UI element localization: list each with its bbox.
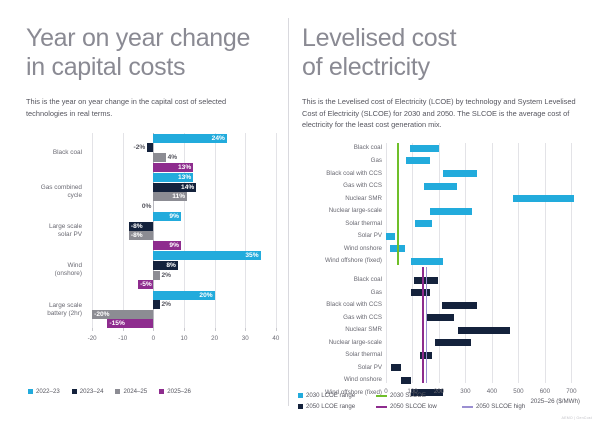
yoy-value-label: 9% bbox=[169, 212, 179, 221]
legend-item-label: 2023–24 bbox=[80, 388, 104, 395]
lcoe-range-bar bbox=[406, 157, 430, 164]
lcoe-range-bar bbox=[435, 339, 471, 346]
yoy-axis-tick-label: 10 bbox=[181, 335, 188, 342]
lcoe-range-bar bbox=[424, 183, 457, 190]
yoy-axis-tick-label: -10 bbox=[118, 335, 127, 342]
yoy-category-label-line: Black coal bbox=[26, 149, 82, 157]
gridline bbox=[545, 143, 546, 383]
legend-swatch-icon bbox=[159, 389, 164, 394]
lcoe-range-bar bbox=[430, 208, 472, 215]
yoy-category-label-line: Gas combined bbox=[26, 184, 82, 192]
gridline bbox=[245, 133, 246, 329]
yoy-value-label: 2% bbox=[162, 271, 172, 280]
legend-item[interactable]: 2050 SLCOE low bbox=[376, 403, 462, 410]
yoy-bar-chart: 24%-2%4%13%13%14%11%0%9%-8%-8%9%35%8%2%-… bbox=[26, 133, 288, 348]
panel-year-on-year-change: Year on year change in capital costs Thi… bbox=[0, 0, 288, 424]
lcoe-range-bar bbox=[442, 302, 478, 309]
intro-text-left: This is the year on year change in the c… bbox=[26, 96, 261, 119]
lcoe-range-bar bbox=[410, 145, 439, 152]
yoy-value-label: 2% bbox=[162, 300, 172, 309]
yoy-category-label-line: Wind bbox=[26, 262, 82, 270]
lcoe-range-bar bbox=[443, 170, 477, 177]
title-line-2: of electricity bbox=[302, 53, 430, 81]
lcoe-category-label: Gas bbox=[302, 157, 382, 165]
legend-item[interactable]: 2025–26 bbox=[159, 388, 191, 395]
yoy-category-label-line: battery (2hr) bbox=[26, 310, 82, 318]
lcoe-plot-area bbox=[386, 143, 582, 383]
yoy-category-label: Wind(onshore) bbox=[26, 262, 82, 278]
legend-item-label: 2024–25 bbox=[123, 388, 147, 395]
yoy-value-label: 13% bbox=[178, 163, 191, 172]
title-line-1: Levelised cost bbox=[302, 24, 456, 52]
yoy-axis-tick-label: 20 bbox=[211, 335, 218, 342]
yoy-plot-area: 24%-2%4%13%13%14%11%0%9%-8%-8%9%35%8%2%-… bbox=[86, 133, 282, 329]
yoy-category-label-line: (onshore) bbox=[26, 270, 82, 278]
yoy-value-label: 35% bbox=[245, 251, 258, 260]
yoy-value-label: 4% bbox=[168, 153, 178, 162]
lcoe-category-label: Solar thermal bbox=[302, 220, 382, 228]
source-note: AEMO | GenCost bbox=[562, 416, 593, 420]
lcoe-range-bar bbox=[391, 364, 400, 371]
yoy-value-label: 9% bbox=[169, 241, 179, 250]
yoy-category-label-line: solar PV bbox=[26, 231, 82, 239]
gridline bbox=[571, 143, 572, 383]
lcoe-range-bar bbox=[458, 327, 511, 334]
page-title-left: Year on year change in capital costs bbox=[26, 24, 274, 82]
legend-row: 2030 LCOE range2030 SLCOE bbox=[298, 392, 598, 399]
lcoe-category-label: Solar thermal bbox=[302, 351, 382, 359]
yoy-category-label-line: cycle bbox=[26, 192, 82, 200]
yoy-category-label: Gas combinedcycle bbox=[26, 184, 82, 200]
legend-item[interactable]: 2030 LCOE range bbox=[298, 392, 376, 399]
yoy-axis-tick-label: 30 bbox=[242, 335, 249, 342]
yoy-value-label: -5% bbox=[140, 280, 152, 289]
slcoe-2050-low-line bbox=[422, 267, 424, 383]
lcoe-range-bar bbox=[386, 233, 395, 240]
gridline bbox=[386, 143, 387, 383]
lcoe-range-bar bbox=[513, 195, 574, 202]
legend-item-label: 2022–23 bbox=[36, 388, 60, 395]
lcoe-category-label: Black coal bbox=[302, 276, 382, 284]
yoy-value-label: 14% bbox=[181, 183, 194, 192]
yoy-bar bbox=[153, 271, 159, 280]
lcoe-category-label: Solar PV bbox=[302, 232, 382, 240]
lcoe-range-bar bbox=[427, 314, 453, 321]
legend-item[interactable]: 2050 LCOE range bbox=[298, 403, 376, 410]
yoy-category-label: Large scalebattery (2hr) bbox=[26, 302, 82, 318]
legend-item[interactable]: 2030 SLCOE bbox=[376, 392, 462, 399]
yoy-bar bbox=[147, 143, 153, 152]
yoy-value-label: 0% bbox=[142, 202, 152, 211]
infographic-page: Year on year change in capital costs Thi… bbox=[0, 0, 600, 424]
yoy-axis-tickmark bbox=[92, 328, 93, 331]
lcoe-range-chart: 2025–26 ($/MWh) 0100200300400500600700 B… bbox=[302, 143, 600, 389]
gridline bbox=[276, 133, 277, 329]
yoy-value-label: 24% bbox=[212, 134, 225, 143]
lcoe-range-bar bbox=[411, 258, 443, 265]
lcoe-category-label: Nuclear SMR bbox=[302, 195, 382, 203]
legend-year-series: 2022–232023–242024–252025–26 bbox=[28, 388, 278, 395]
yoy-value-label: -8% bbox=[131, 222, 143, 231]
lcoe-category-label: Nuclear large-scale bbox=[302, 207, 382, 215]
yoy-value-label: 8% bbox=[166, 261, 176, 270]
yoy-axis-tickmark bbox=[276, 328, 277, 331]
yoy-axis-tick-label: 40 bbox=[272, 335, 279, 342]
yoy-category-label: Large scalesolar PV bbox=[26, 223, 82, 239]
legend-swatch-icon bbox=[298, 404, 303, 409]
yoy-value-label: -20% bbox=[94, 310, 109, 319]
yoy-axis-tick-label: 0 bbox=[152, 335, 155, 342]
gridline bbox=[215, 133, 216, 329]
lcoe-category-label: Black coal bbox=[302, 144, 382, 152]
yoy-bar bbox=[153, 153, 165, 162]
legend-item-label: 2050 SLCOE high bbox=[476, 403, 525, 410]
legend-item[interactable]: 2022–23 bbox=[28, 388, 60, 395]
yoy-axis-tick-label: -20 bbox=[88, 335, 97, 342]
legend-line-icon bbox=[376, 406, 387, 408]
lcoe-category-label: Wind onshore bbox=[302, 245, 382, 253]
yoy-value-label: 20% bbox=[199, 291, 212, 300]
yoy-category-label-line: Large scale bbox=[26, 302, 82, 310]
yoy-axis-tickmark bbox=[245, 328, 246, 331]
lcoe-range-bar bbox=[415, 220, 432, 227]
gridline bbox=[123, 133, 124, 329]
legend-item-label: 2050 LCOE range bbox=[306, 403, 355, 410]
slcoe-2030-line bbox=[397, 143, 399, 265]
legend-item-label: 2025–26 bbox=[167, 388, 191, 395]
yoy-axis-tickmark bbox=[153, 328, 154, 331]
lcoe-category-label: Gas with CCS bbox=[302, 182, 382, 190]
legend-item[interactable]: 2023–24 bbox=[72, 388, 104, 395]
yoy-category-label-line: Large scale bbox=[26, 223, 82, 231]
yoy-axis-tickmark bbox=[215, 328, 216, 331]
lcoe-category-label: Black coal with CCS bbox=[302, 170, 382, 178]
lcoe-category-label: Black coal with CCS bbox=[302, 301, 382, 309]
legend-item-label: 2050 SLCOE low bbox=[390, 403, 437, 410]
yoy-value-label: 13% bbox=[178, 173, 191, 182]
gridline bbox=[518, 143, 519, 383]
page-title-right: Levelised cost of electricity bbox=[302, 24, 590, 82]
lcoe-category-label: Nuclear large-scale bbox=[302, 339, 382, 347]
legend-swatch-icon bbox=[298, 393, 303, 398]
gridline bbox=[492, 143, 493, 383]
title-line-1: Year on year change bbox=[26, 24, 250, 52]
legend-item-label: 2030 SLCOE bbox=[390, 392, 426, 399]
lcoe-range-bar bbox=[401, 377, 412, 384]
legend-swatch-icon bbox=[115, 389, 120, 394]
legend-swatch-icon bbox=[72, 389, 77, 394]
lcoe-category-label: Wind onshore bbox=[302, 376, 382, 384]
yoy-bar bbox=[153, 300, 159, 309]
intro-text-right: This is the Levelised cost of Electricit… bbox=[302, 96, 590, 131]
legend-item-label: 2030 LCOE range bbox=[306, 392, 355, 399]
lcoe-category-label: Gas bbox=[302, 289, 382, 297]
yoy-axis-tickmark bbox=[123, 328, 124, 331]
gridline bbox=[465, 143, 466, 383]
panel-levelised-cost: Levelised cost of electricity This is th… bbox=[288, 0, 600, 424]
lcoe-category-label: Solar PV bbox=[302, 364, 382, 372]
legend-item[interactable]: 2050 SLCOE high bbox=[462, 403, 525, 410]
yoy-value-label: -15% bbox=[109, 319, 124, 328]
lcoe-category-label: Nuclear SMR bbox=[302, 326, 382, 334]
title-line-2: in capital costs bbox=[26, 53, 185, 81]
legend-row: 2050 LCOE range2050 SLCOE low2050 SLCOE … bbox=[298, 403, 598, 410]
yoy-value-label: -8% bbox=[131, 231, 143, 240]
yoy-value-label: -2% bbox=[134, 143, 146, 152]
legend-swatch-icon bbox=[28, 389, 33, 394]
yoy-value-label: 11% bbox=[172, 192, 185, 201]
legend-line-icon bbox=[376, 395, 387, 397]
lcoe-category-label: Wind offshore (fixed) bbox=[302, 257, 382, 265]
legend-line-icon bbox=[462, 406, 473, 408]
lcoe-category-label: Gas with CCS bbox=[302, 314, 382, 322]
yoy-x-axis: -20-10010203040 bbox=[86, 331, 282, 345]
slcoe-2050-high-line bbox=[426, 267, 428, 383]
legend-lcoe: 2030 LCOE range2030 SLCOE2050 LCOE range… bbox=[298, 392, 598, 414]
yoy-category-label: Black coal bbox=[26, 149, 82, 157]
legend-item[interactable]: 2024–25 bbox=[115, 388, 147, 395]
gridline bbox=[92, 133, 93, 329]
yoy-axis-tickmark bbox=[184, 328, 185, 331]
